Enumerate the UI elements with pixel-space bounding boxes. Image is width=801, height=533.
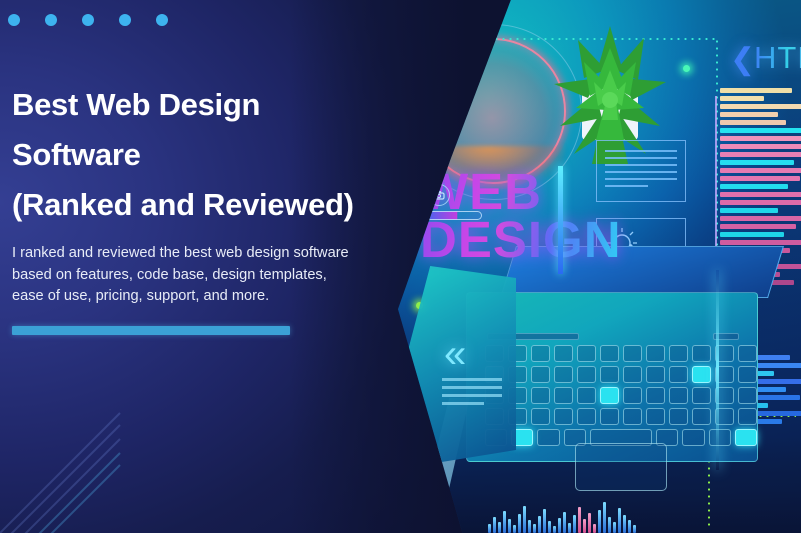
code-line	[720, 184, 788, 189]
code-line	[720, 152, 801, 157]
dot	[82, 14, 94, 26]
key[interactable]	[537, 429, 559, 446]
code-line	[720, 168, 801, 173]
code-line	[720, 112, 778, 117]
chevron-double-left-icon[interactable]: «	[444, 332, 460, 377]
key[interactable]	[577, 408, 596, 425]
key[interactable]	[600, 408, 619, 425]
code-line	[720, 216, 801, 221]
page-title: Best Web Design Software (Ranked and Rev…	[12, 80, 432, 231]
page-title-line-3: (Ranked and Reviewed)	[12, 180, 432, 230]
mini-bars-decoration	[442, 378, 502, 410]
key[interactable]	[577, 345, 596, 362]
key[interactable]	[577, 366, 596, 383]
code-line	[720, 88, 792, 93]
code-line	[720, 192, 801, 197]
key-lit[interactable]	[692, 366, 711, 383]
wireframe-line	[605, 157, 677, 159]
code-line	[720, 176, 800, 181]
wireframe-line	[605, 150, 677, 152]
dot	[156, 14, 168, 26]
key[interactable]	[692, 408, 711, 425]
hero-copy: Best Web Design Software (Ranked and Rev…	[12, 80, 432, 335]
key[interactable]	[738, 387, 757, 404]
page-title-line-2: Software	[12, 130, 432, 180]
key[interactable]	[738, 345, 757, 362]
key[interactable]	[623, 366, 642, 383]
key[interactable]	[669, 366, 688, 383]
key[interactable]	[738, 366, 757, 383]
key[interactable]	[646, 345, 665, 362]
mini-bar	[442, 402, 484, 405]
code-line	[720, 104, 801, 109]
key[interactable]	[692, 345, 711, 362]
page-title-line-1: Best Web Design	[12, 80, 432, 130]
key-lit[interactable]	[600, 387, 619, 404]
accent-underline-bar	[12, 326, 290, 335]
key[interactable]	[738, 408, 757, 425]
dot	[45, 14, 57, 26]
key[interactable]	[623, 408, 642, 425]
code-line	[720, 128, 801, 133]
neon-cursor-bar	[558, 166, 563, 274]
code-line	[720, 120, 786, 125]
hero-description: I ranked and reviewed the best web desig…	[12, 243, 352, 309]
key[interactable]	[554, 387, 573, 404]
circuit-node	[683, 65, 690, 72]
mini-bar	[442, 394, 502, 397]
mini-bar	[442, 378, 502, 381]
dot	[8, 14, 20, 26]
glow-scanline	[716, 270, 719, 470]
key[interactable]	[692, 387, 711, 404]
key[interactable]	[600, 366, 619, 383]
key[interactable]	[646, 366, 665, 383]
code-line	[720, 136, 801, 141]
html-tag-label: HTML	[754, 40, 801, 76]
dot-grid-decoration	[8, 0, 193, 44]
audio-waveform-decoration	[488, 493, 636, 533]
key[interactable]	[531, 366, 550, 383]
dot	[119, 14, 131, 26]
key[interactable]	[646, 408, 665, 425]
key[interactable]	[577, 387, 596, 404]
code-line	[720, 160, 794, 165]
key[interactable]	[646, 387, 665, 404]
code-line	[720, 240, 801, 245]
code-line	[720, 96, 764, 101]
key[interactable]	[554, 345, 573, 362]
key[interactable]	[623, 387, 642, 404]
neon-text-line-1: WEB	[420, 168, 622, 216]
key[interactable]	[669, 345, 688, 362]
key[interactable]	[531, 408, 550, 425]
diagonal-streaks-decoration	[0, 373, 200, 533]
laptop-illustration: «	[458, 250, 801, 480]
neon-text-line-2: DESIGN	[420, 216, 622, 264]
key[interactable]	[669, 387, 688, 404]
key[interactable]	[554, 366, 573, 383]
chevron-left-icon: ❮	[730, 42, 755, 77]
hero-banner: Best Web Design Software (Ranked and Rev…	[0, 0, 801, 533]
key[interactable]	[682, 429, 704, 446]
key[interactable]	[531, 345, 550, 362]
key[interactable]	[709, 429, 731, 446]
key[interactable]	[623, 345, 642, 362]
code-line	[720, 232, 784, 237]
wireframe-line	[605, 164, 677, 166]
key[interactable]	[531, 387, 550, 404]
key[interactable]	[600, 345, 619, 362]
code-line	[720, 200, 801, 205]
laptop-trackpad[interactable]	[575, 443, 667, 491]
key-lit[interactable]	[735, 429, 757, 446]
code-line	[720, 224, 796, 229]
code-line	[720, 208, 778, 213]
key[interactable]	[554, 408, 573, 425]
code-line	[720, 144, 801, 149]
key[interactable]	[669, 408, 688, 425]
mini-bar	[442, 386, 502, 389]
